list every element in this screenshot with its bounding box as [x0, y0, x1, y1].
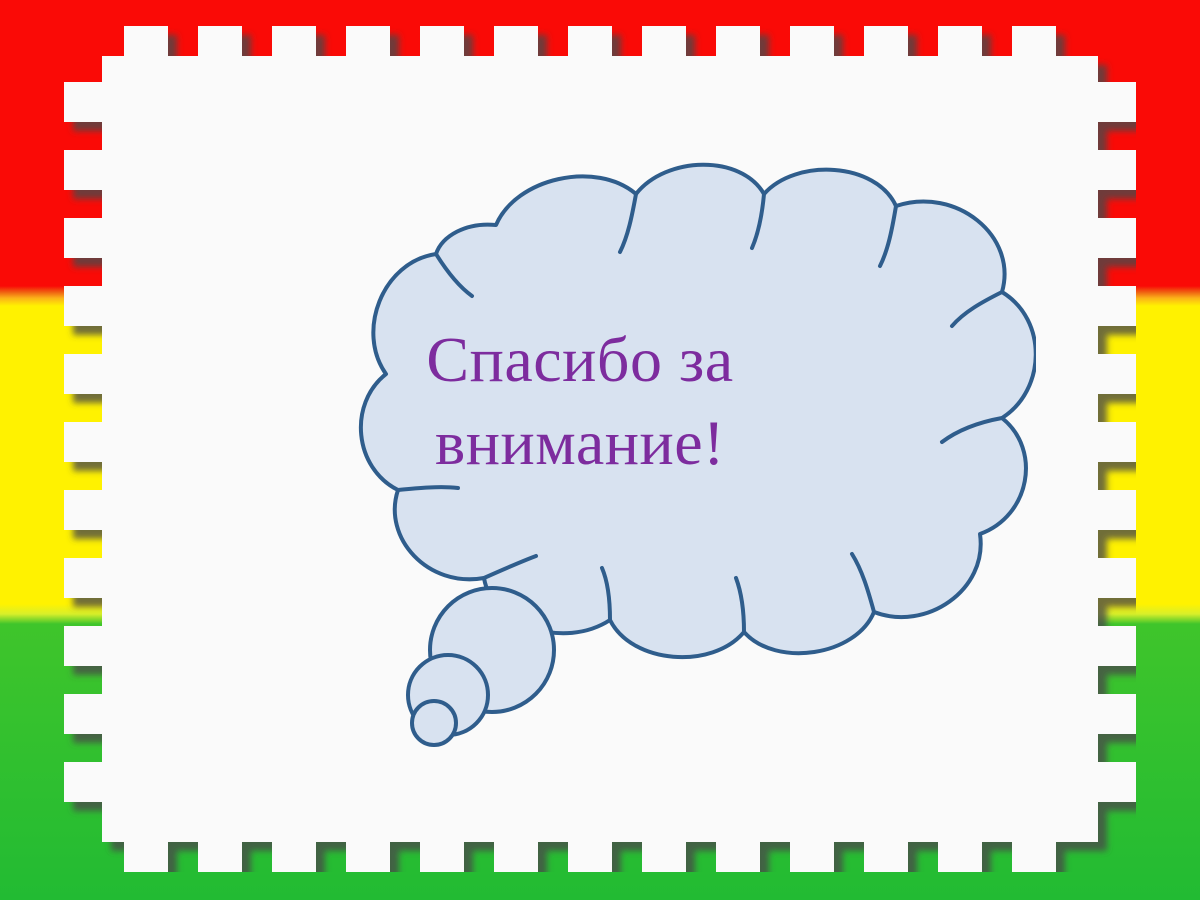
thought-bubble	[196, 150, 1036, 750]
frame-tabs-right	[1090, 82, 1136, 802]
thought-bubble-tail	[408, 588, 554, 745]
slide-canvas: Спасибо за внимание!	[0, 0, 1200, 900]
thought-bubble-cloud	[361, 165, 1036, 657]
frame-tabs-left	[64, 82, 110, 802]
